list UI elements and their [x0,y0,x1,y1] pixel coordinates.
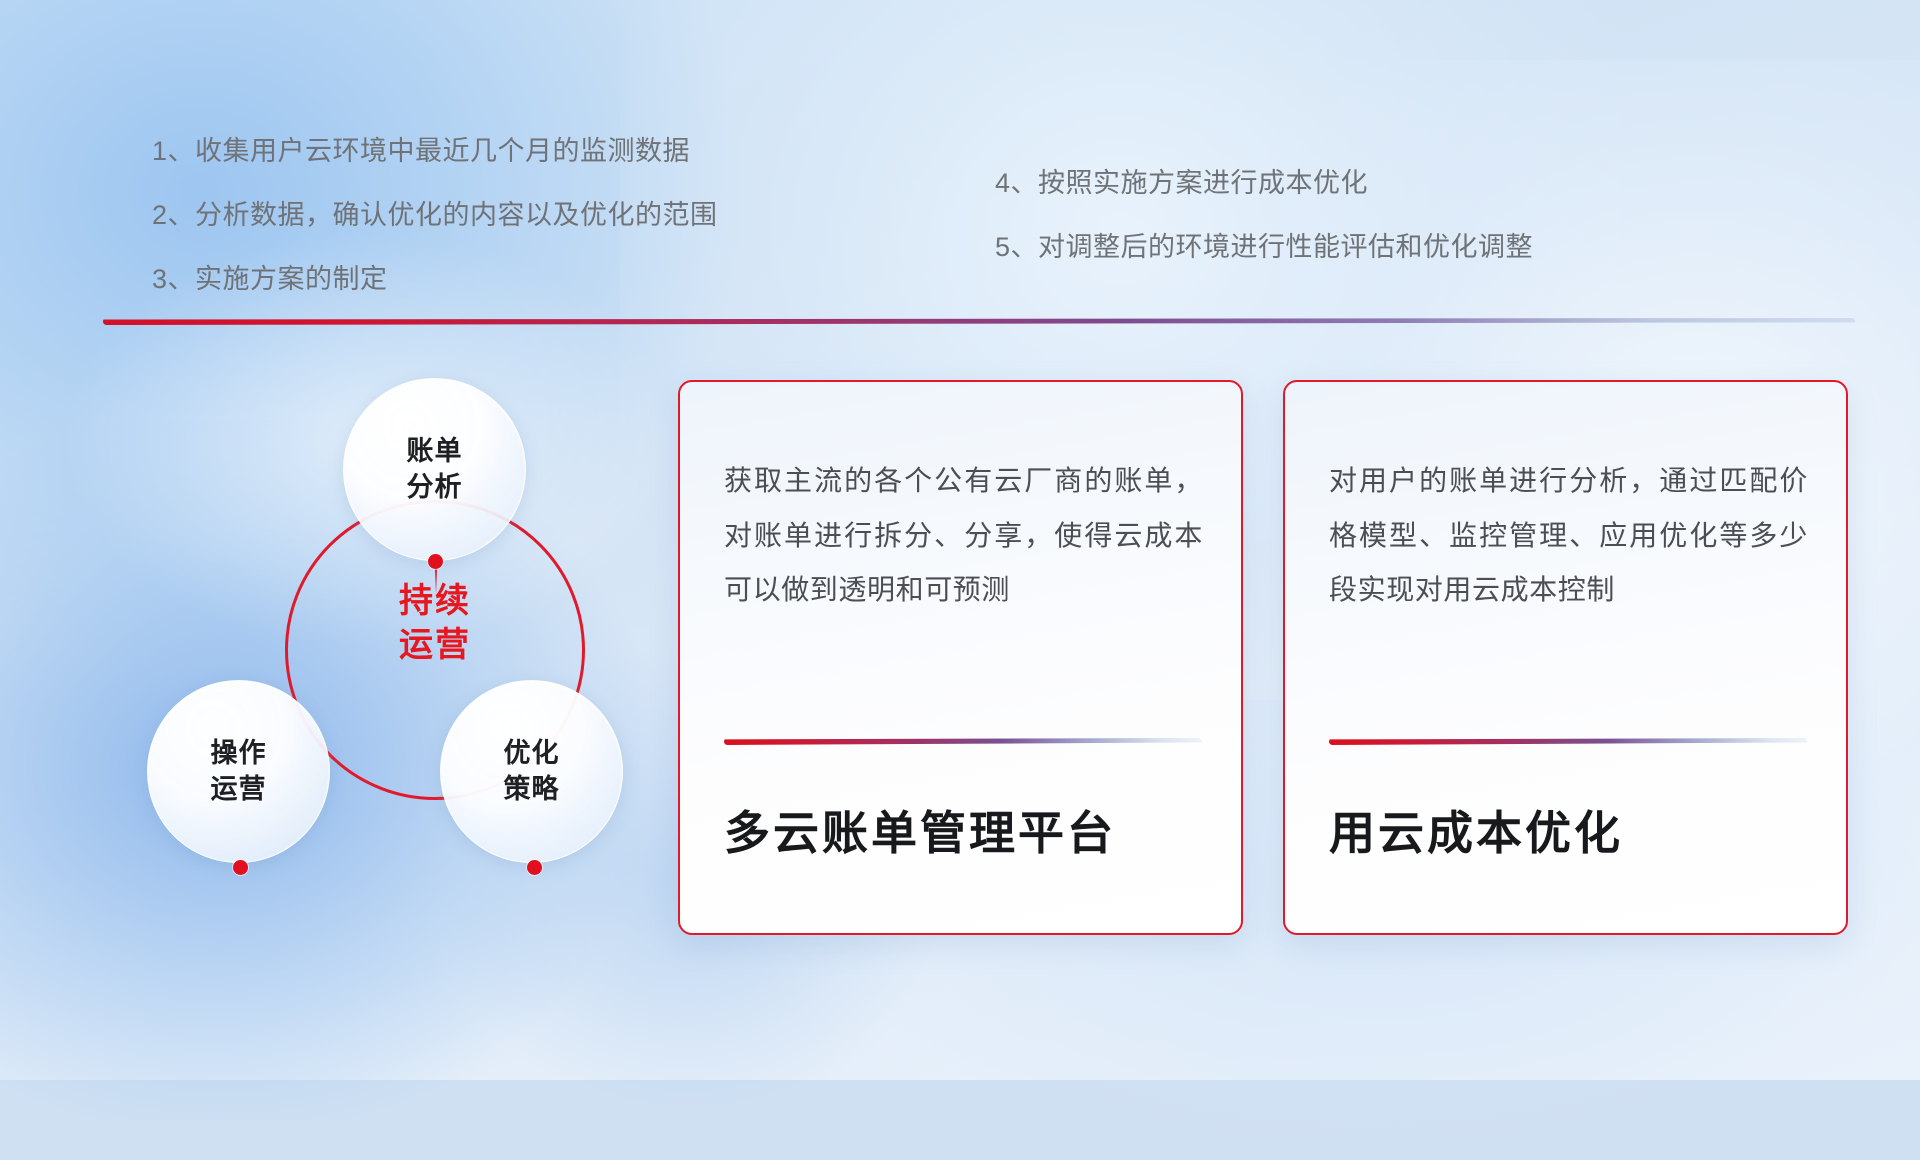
steps-list: 1、收集用户云环境中最近几个月的监测数据 2、分析数据，确认优化的内容以及优化的… [0,0,1920,290]
bubble-3-line2: 策略 [504,774,560,804]
card-2-rule [1329,738,1807,745]
diagram-node-dot-top [428,554,443,569]
card-2-title: 用云成本优化 [1329,797,1816,863]
feature-card-multicloud-billing[interactable]: 获取主流的各个公有云厂商的账单，对账单进行拆分、分享，使得云成本可以做到透明和可… [678,380,1243,935]
diagram-bubble-bill-analysis[interactable]: 账单 分析 [343,378,526,561]
bubble-1-line2: 分析 [407,472,463,502]
diagram-node-dot-bottom-right [527,860,542,875]
step-item-5: 5、对调整后的环境进行性能评估和优化调整 [995,225,1533,264]
diagram-node-dot-bottom-left [233,860,248,875]
card-1-rule [724,738,1202,745]
card-1-body-text: 获取主流的各个公有云厂商的账单，对账单进行拆分、分享，使得云成本可以做到透明和可… [724,454,1203,618]
card-2-body-text: 对用户的账单进行分析，通过匹配价格模型、监控管理、应用优化等多少段实现对用云成本… [1329,454,1808,618]
diagram-connector-top [435,568,437,594]
feature-card-cost-optimization[interactable]: 对用户的账单进行分析，通过匹配价格模型、监控管理、应用优化等多少段实现对用云成本… [1283,380,1848,935]
step-item-3: 3、实施方案的制定 [152,257,388,296]
bubble-2-line1: 操作 [211,738,267,768]
card-1-title: 多云账单管理平台 [724,797,1211,863]
bubble-3-line1: 优化 [504,738,560,768]
bubble-2-line2: 运营 [211,774,267,804]
step-item-1: 1、收集用户云环境中最近几个月的监测数据 [152,129,690,168]
continuous-operation-diagram: 持续 运营 账单 分析 操作 运营 优化 策略 [95,350,625,950]
bubble-1-line1: 账单 [407,436,463,466]
diagram-center-label-line2: 运营 [285,624,585,668]
diagram-bubble-operation[interactable]: 操作 运营 [147,680,330,863]
step-item-2: 2、分析数据，确认优化的内容以及优化的范围 [152,193,718,232]
step-item-4: 4、按照实施方案进行成本优化 [995,161,1368,200]
diagram-bubble-optimization-strategy[interactable]: 优化 策略 [440,680,623,863]
